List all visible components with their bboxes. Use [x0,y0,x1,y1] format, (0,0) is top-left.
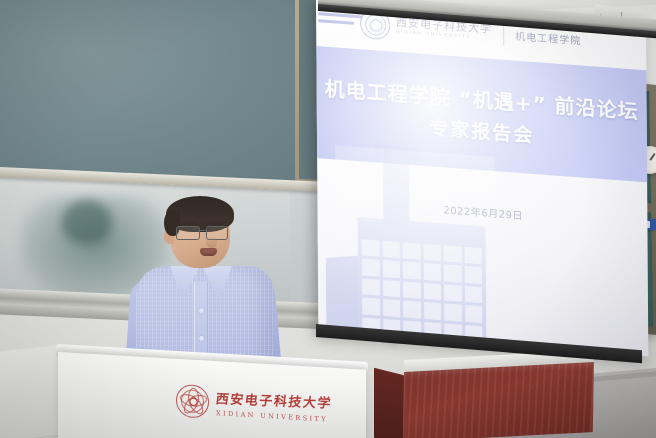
building-fade-overlay [335,145,496,345]
chalkboard-main-surface [0,0,301,184]
shirt-button [199,336,204,341]
glasses-lens-left [176,226,200,240]
mouth [200,248,217,256]
eyebrow [206,222,223,225]
campus-building-illustration [335,145,496,345]
nose [206,236,217,248]
wooden-table-front [403,362,594,438]
lectern-side [0,345,64,438]
glasses-icon [176,226,232,239]
eyebrow [178,222,196,225]
projection-screen[interactable]: 西安电子科技大学 XIDIAN UNIVERSITY 机电工程学院 机电工程学院… [316,0,648,356]
shirt-button [199,308,204,313]
slide-title-secondary: 专家报告会 [429,113,534,148]
lecture-hall-photo: 西安电子科技大学 XIDIAN UNIVERSITY 机电工程学院 机电工程学院… [0,0,656,438]
lectern-name-en: XIDIAN UNIVERSITY [216,409,332,424]
speaker-shadow-head [62,200,112,244]
lectern-name-cn: 西安电子科技大学 [215,388,334,412]
university-emblem-icon [176,383,209,418]
chalkboard-main [0,0,306,189]
lectern-emblem: 西安电子科技大学 XIDIAN UNIVERSITY [176,379,336,430]
wood-grain [403,362,594,438]
lectern-wordmark: 西安电子科技大学 XIDIAN UNIVERSITY [216,387,332,424]
